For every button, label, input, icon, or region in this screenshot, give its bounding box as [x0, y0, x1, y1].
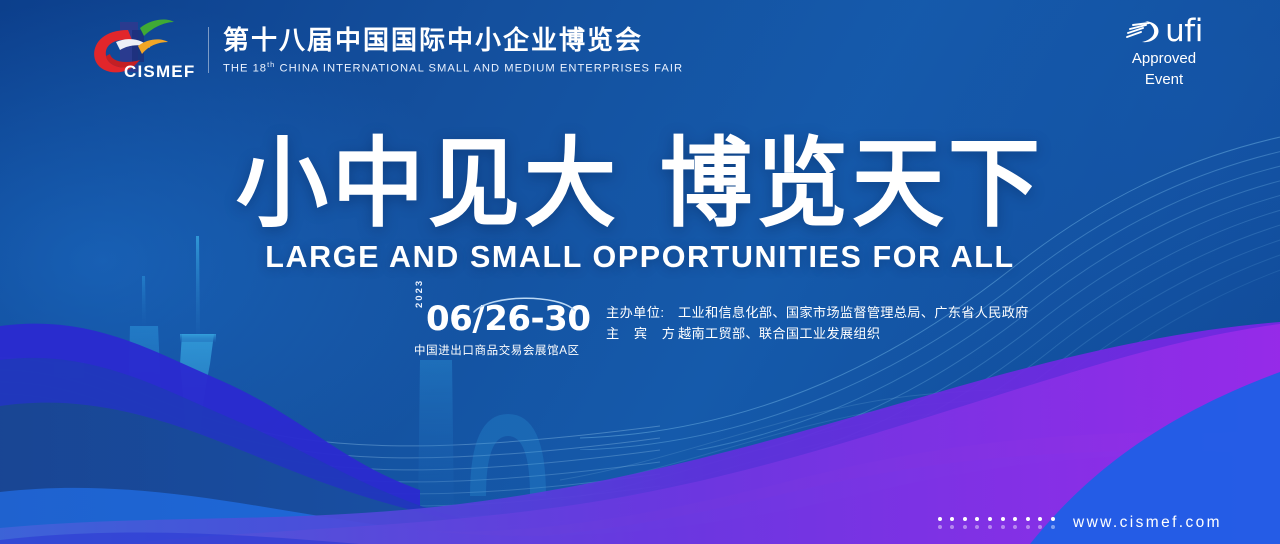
header-title-cn: 第十八届中国国际中小企业博览会: [223, 26, 683, 55]
venue-label: 中国进出口商品交易会展馆A区: [414, 342, 584, 358]
guest-value: 越南工贸部、联合国工业发展组织: [678, 323, 880, 344]
organizer-value: 工业和信息化部、国家市场监督管理总局、广东省人民政府: [678, 302, 1029, 323]
guest-row: 主 宾 方: 越南工贸部、联合国工业发展组织: [606, 323, 1029, 344]
cismef-logo: CISMEF: [86, 16, 198, 84]
dot-pattern: [938, 517, 1055, 529]
organizer-label: 主办单位:: [606, 302, 678, 323]
header-title-en-pre: THE 18: [223, 62, 267, 74]
dot-row-top: [938, 517, 1055, 521]
date-block: 2023 06/26-30 中国进出口商品交易会展馆A区: [412, 296, 584, 358]
website-url[interactable]: www.cismef.com: [1073, 514, 1222, 532]
headline-right: 博览天下: [660, 128, 1044, 241]
ufi-wordmark: ufi: [1165, 16, 1203, 47]
header-divider: [208, 27, 209, 73]
cismef-banner: CISMEF 第十八届中国国际中小企业博览会 THE 18th CHINA IN…: [0, 0, 1280, 544]
organizer-block: 主办单位: 工业和信息化部、国家市场监督管理总局、广东省人民政府 主 宾 方: …: [606, 296, 1029, 345]
ufi-swoosh-icon: [1125, 17, 1163, 47]
brand-header: CISMEF 第十八届中国国际中小企业博览会 THE 18th CHINA IN…: [86, 14, 683, 86]
date-arc-icon: [472, 292, 576, 314]
guest-label: 主 宾 方:: [606, 323, 678, 344]
page-subtitle: LARGE AND SMALL OPPORTUNITIES FOR ALL: [0, 240, 1280, 275]
organizer-row: 主办单位: 工业和信息化部、国家市场监督管理总局、广东省人民政府: [606, 302, 1029, 323]
page-title: 小中见大博览天下: [0, 136, 1280, 234]
ufi-event-label: Event: [1104, 71, 1224, 89]
header-title-en: THE 18th CHINA INTERNATIONAL SMALL AND M…: [223, 60, 683, 75]
dot-row-bottom: [938, 525, 1055, 529]
ufi-approved-label: Approved: [1104, 50, 1224, 68]
footer-url-block: www.cismef.com: [938, 514, 1222, 532]
cismef-wordmark: CISMEF: [124, 62, 195, 82]
year-label: 2023: [414, 279, 425, 308]
event-info: 2023 06/26-30 中国进出口商品交易会展馆A区 主办单位: 工业和信息…: [412, 296, 1029, 358]
ufi-approved-event-logo: ufi Approved Event: [1104, 16, 1224, 88]
header-title-en-post: CHINA INTERNATIONAL SMALL AND MEDIUM ENT…: [275, 62, 683, 74]
headline-left: 小中见大: [236, 128, 620, 241]
